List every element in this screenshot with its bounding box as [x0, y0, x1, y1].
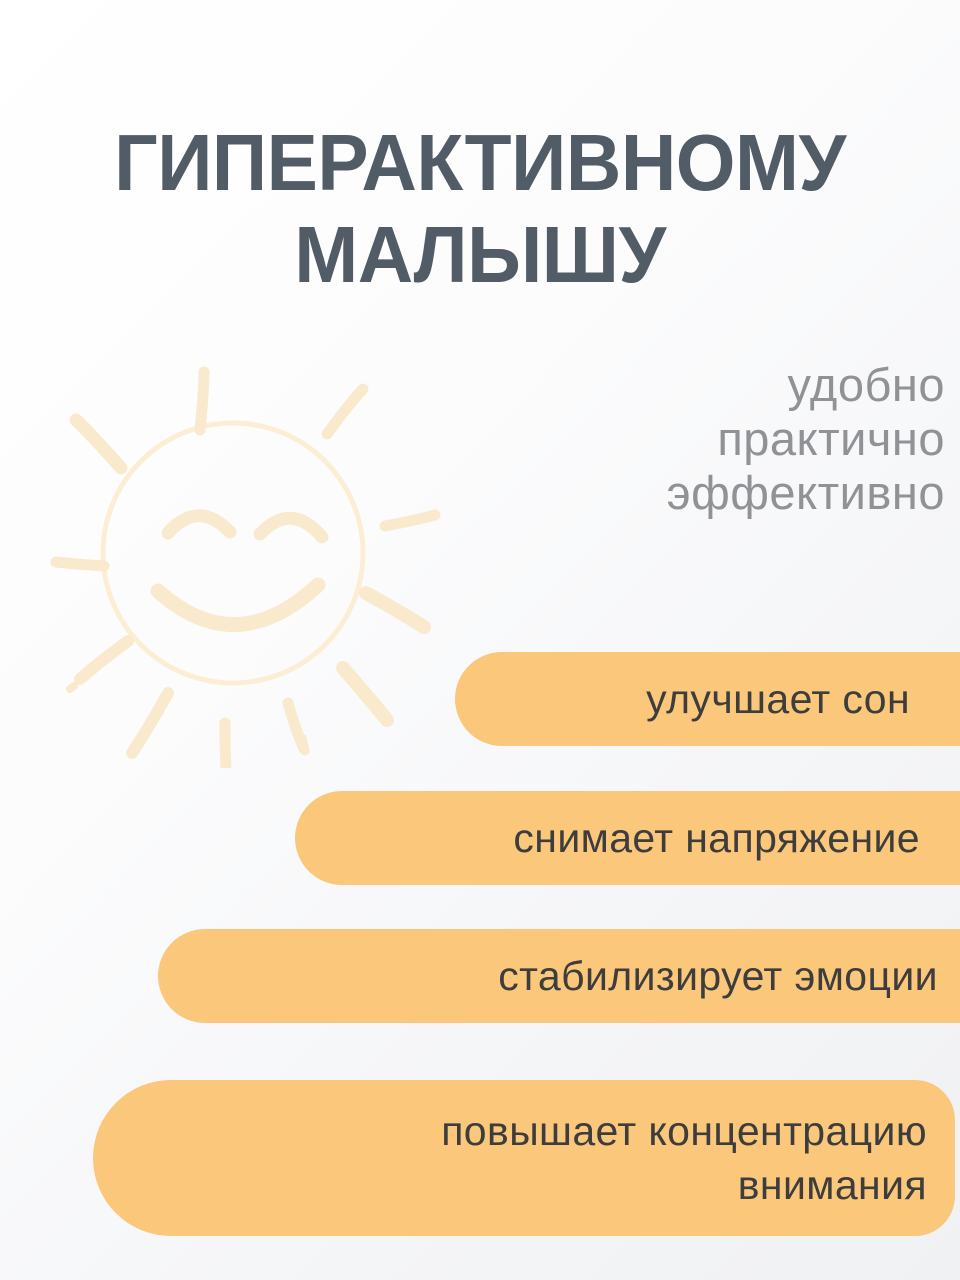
benefit-label-1: улучшает сон — [495, 672, 910, 726]
benefit-label-4: повышает концентрацию внимания — [143, 1104, 927, 1212]
smiling-sun-icon — [18, 338, 448, 768]
benefit-pill-1: улучшает сон — [455, 652, 960, 746]
benefit-label-3: стабилизирует эмоции — [198, 949, 938, 1003]
benefit-pill-4: повышает концентрацию внимания — [93, 1080, 955, 1236]
page-title: ГИПЕРАКТИВНОМУ МАЛЫШУ — [19, 124, 941, 295]
subtitle-line-2: практично — [385, 412, 945, 466]
subtitle-line-1: удобно — [385, 358, 945, 412]
benefit-pill-2: снимает напряжение — [295, 791, 960, 885]
promo-poster: ГИПЕРАКТИВНОМУ МАЛЫШУ удобно практично э… — [0, 0, 960, 1280]
subtitle-line-3: эффективно — [385, 466, 945, 520]
headline-line-2: МАЛЫШУ — [19, 216, 941, 294]
benefit-pill-3: стабилизирует эмоции — [158, 929, 960, 1023]
subtitle-block: удобно практично эффективно — [385, 358, 945, 520]
headline-line-1: ГИПЕРАКТИВНОМУ — [19, 124, 941, 202]
benefit-label-2: снимает напряжение — [335, 811, 920, 865]
